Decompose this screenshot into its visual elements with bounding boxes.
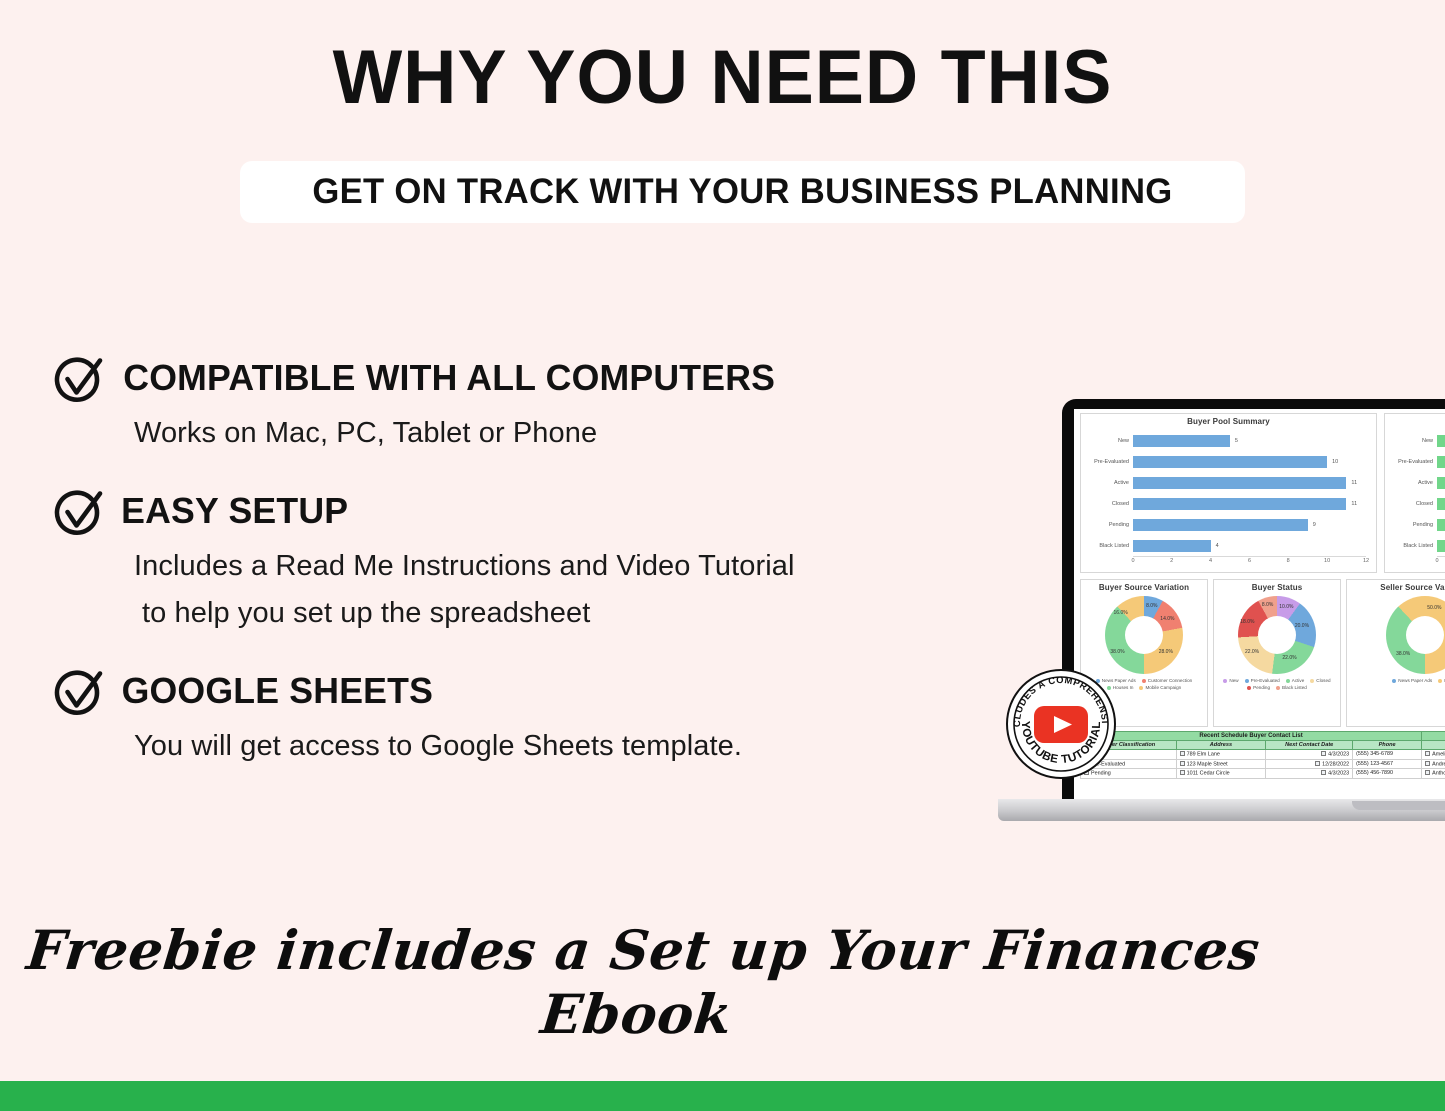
filter-icon[interactable] [1425, 751, 1430, 756]
filter-icon[interactable] [1315, 761, 1320, 766]
bar-plot-area: New5 Pre-Evaluated10 Active11 Closed11 P… [1081, 430, 1366, 556]
slice-label: 22.0% [1245, 649, 1259, 655]
donut-wrapper: 10.0% 20.0% 22.0% 22.0% 18.0% 8.0% [1214, 596, 1340, 674]
legend-item: Broker [1438, 678, 1445, 683]
spreadsheet-dashboard: Buyer Pool Summary New5 Pre-Evaluated10 … [1074, 409, 1445, 799]
legend-label: Mobile Campaign [1145, 685, 1181, 690]
feature-desc-line-2: to help you set up the spreadsheet [134, 590, 1012, 637]
cell-name: Andrew Hall [1422, 759, 1445, 769]
x-axis: 0 2 4 6 8 10 12 [1133, 556, 1366, 566]
feature-title: EASY SETUP [121, 485, 348, 537]
donut-chart: 8.0% 14.0% 28.0% 38.0% 16.0% [1105, 596, 1183, 674]
table-title: Recent Schedule Buyer Contact List [1081, 732, 1422, 741]
x-tick: 0 [1131, 558, 1134, 564]
legend-item: Pre-Evaluated [1245, 678, 1280, 683]
legend-label: Black Listed [1282, 685, 1307, 690]
filter-icon[interactable] [1180, 751, 1185, 756]
cell-name: Anthony Brooks [1422, 769, 1445, 779]
chart-legend: New Pre-Evaluated Active Closed Pending … [1214, 678, 1340, 690]
legend-item: Active [1286, 678, 1305, 683]
bar-row: Pre-Evaluated [1437, 451, 1445, 472]
donut-chart: 10.0% 20.0% 22.0% 22.0% 18.0% 8.0% [1238, 596, 1316, 674]
feature-desc-line-1: You will get access to Google Sheets tem… [134, 730, 742, 762]
x-tick: 8 [1287, 558, 1290, 564]
legend-item: Mobile Campaign [1139, 685, 1181, 690]
column-header-next-contact-date[interactable]: Next Contact Date [1266, 741, 1353, 750]
cell-name: Amelia Bell [1422, 750, 1445, 760]
bar-row: Active [1437, 472, 1445, 493]
feature-title: COMPATIBLE WITH ALL COMPUTERS [123, 352, 775, 404]
bar-row: New5 [1133, 430, 1366, 451]
slice-label: 8.0% [1262, 602, 1273, 608]
bar-value-label: 9 [1313, 522, 1316, 528]
slice-label: 28.0% [1159, 649, 1173, 655]
filter-icon[interactable] [1321, 751, 1326, 756]
donut-wrapper: 50.0% 38.0% [1347, 596, 1445, 674]
slice-label: 18.0% [1240, 619, 1254, 625]
legend-item: Customer Connection [1142, 678, 1192, 683]
slice-label: 50.0% [1427, 605, 1441, 611]
x-tick: 6 [1248, 558, 1251, 564]
donut-chart: 50.0% 38.0% [1386, 596, 1445, 674]
column-header-name[interactable]: Name [1422, 741, 1445, 750]
chart-title: Buyer Status [1214, 580, 1340, 592]
subtitle-text: GET ON TRACK WITH YOUR BUSINESS PLANNING [312, 172, 1172, 212]
legend-label: Active [1292, 678, 1305, 683]
bar-category-label: New [1385, 438, 1433, 444]
chart-seller-pool-summary: Seller Pool Summary New Pre-Evaluated Ac… [1384, 413, 1445, 573]
filter-icon[interactable] [1321, 770, 1326, 775]
legend-item: Closed [1310, 678, 1330, 683]
cell-date: 4/3/2023 [1266, 769, 1353, 779]
table-title-right [1422, 732, 1445, 741]
slice-label: 16.0% [1114, 610, 1128, 616]
feature-list: COMPATIBLE WITH ALL COMPUTERS Works on M… [52, 352, 1012, 798]
bar-plot-area: New Pre-Evaluated Active Closed Pending … [1385, 430, 1445, 556]
check-circle-icon [52, 487, 104, 539]
subtitle-banner: GET ON TRACK WITH YOUR BUSINESS PLANNING [240, 161, 1245, 223]
bar-row: Black Listed4 [1133, 535, 1366, 556]
chart-legend: News Paper Ads Broker [1347, 678, 1445, 683]
cell-phone: (555) 456-7890 [1353, 769, 1422, 779]
bar-category-label: Active [1385, 480, 1433, 486]
bar-row: Pending [1437, 514, 1445, 535]
bar-row: Closed [1437, 493, 1445, 514]
column-header-phone[interactable]: Phone [1353, 741, 1422, 750]
bar-category-label: Black Listed [1081, 543, 1129, 549]
cell-address: 123 Maple Street [1176, 759, 1266, 769]
slice-label: 14.0% [1160, 616, 1174, 622]
table-row: Pre-Evaluated 123 Maple Street 12/28/202… [1081, 759, 1445, 769]
bar-value-label: 10 [1332, 459, 1338, 465]
bar-category-label: Pending [1081, 522, 1129, 528]
bar-category-label: Pre-Evaluated [1081, 459, 1129, 465]
check-circle-icon [52, 667, 104, 719]
bar-category-label: Active [1081, 480, 1129, 486]
bar-row: Pre-Evaluated10 [1133, 451, 1366, 472]
check-circle-icon [52, 354, 104, 406]
slice-label: 20.0% [1295, 623, 1309, 629]
chart-seller-source-variation: Seller Source Variation 50.0% 38.0% News… [1346, 579, 1445, 727]
chart-title: Buyer Source Variation [1081, 580, 1207, 592]
legend-label: Pending [1253, 685, 1270, 690]
legend-item: Pending [1247, 685, 1270, 690]
donut-wrapper: 8.0% 14.0% 28.0% 38.0% 16.0% [1081, 596, 1207, 674]
slice-label: 38.0% [1110, 649, 1124, 655]
legend-label: Pre-Evaluated [1251, 678, 1280, 683]
legend-label: Customer Connection [1148, 678, 1192, 683]
table-row: Pending 1011 Cedar Circle 4/3/2023 (555)… [1081, 769, 1445, 779]
youtube-tutorial-badge: INCLUDES A COMPREHENSIVE YOUTUBE TUTORIA… [1006, 669, 1116, 779]
cell-date: 12/28/2022 [1266, 759, 1353, 769]
feature-header: COMPATIBLE WITH ALL COMPUTERS [52, 352, 1012, 406]
chart-title: Buyer Pool Summary [1081, 414, 1376, 426]
slice-label: 22.0% [1282, 655, 1296, 661]
feature-header: GOOGLE SHEETS [52, 665, 1012, 719]
table-header-row: Buyer Classification Address Next Contac… [1081, 741, 1445, 750]
legend-label: News Paper Ads [1398, 678, 1432, 683]
chart-title: Seller Source Variation [1347, 580, 1445, 592]
bar-value-label: 4 [1216, 543, 1219, 549]
freebie-text: Freebie includes a Set up Your Finances … [0, 918, 1287, 1046]
bar-row: Pending9 [1133, 514, 1366, 535]
bar-row: Closed11 [1133, 493, 1366, 514]
bar-value-label: 11 [1351, 480, 1357, 486]
legend-item: New [1223, 678, 1238, 683]
bar-value-label: 11 [1351, 501, 1357, 507]
cell-phone: (555) 123-4567 [1353, 759, 1422, 769]
x-tick: 0 [1435, 558, 1438, 564]
feature-header: EASY SETUP [52, 485, 1012, 539]
x-axis: 0 [1437, 556, 1445, 566]
legend-item: Black Listed [1276, 685, 1307, 690]
feature-description: Works on Mac, PC, Tablet or Phone [134, 410, 1012, 457]
feature-description: You will get access to Google Sheets tem… [134, 723, 1012, 770]
slice-label: 38.0% [1396, 651, 1410, 657]
feature-description: Includes a Read Me Instructions and Vide… [134, 543, 1012, 637]
feature-item-compatible: COMPATIBLE WITH ALL COMPUTERS Works on M… [52, 352, 1012, 457]
x-tick: 12 [1363, 558, 1369, 564]
bottom-accent-bar [0, 1081, 1445, 1111]
legend-label: New [1229, 678, 1238, 683]
bar-row: New [1437, 430, 1445, 451]
laptop-screen: Buyer Pool Summary New5 Pre-Evaluated10 … [1062, 399, 1445, 799]
feature-desc-line-1: Includes a Read Me Instructions and Vide… [134, 550, 795, 582]
chart-buyer-status: Buyer Status 10.0% 20.0% 22.0% 22.0% 18.… [1213, 579, 1341, 727]
cell-phone: (555) 345-6789 [1353, 750, 1422, 760]
laptop-mockup: Buyer Pool Summary New5 Pre-Evaluated10 … [1062, 399, 1445, 839]
feature-desc-line-1: Works on Mac, PC, Tablet or Phone [134, 417, 597, 449]
feature-item-easy-setup: EASY SETUP Includes a Read Me Instructio… [52, 485, 1012, 637]
bar-value-label: 5 [1235, 438, 1238, 444]
filter-icon[interactable] [1180, 761, 1185, 766]
table-banner-row: Recent Schedule Buyer Contact List [1081, 732, 1445, 741]
cell-address: 1011 Cedar Circle [1176, 769, 1266, 779]
youtube-play-icon [1034, 706, 1088, 743]
feature-item-google-sheets: GOOGLE SHEETS You will get access to Goo… [52, 665, 1012, 770]
laptop-notch [1352, 801, 1445, 810]
bar-row: Active11 [1133, 472, 1366, 493]
page-title: WHY YOU NEED THIS [22, 40, 1424, 116]
bar-row: Black Listed [1437, 535, 1445, 556]
filter-icon[interactable] [1180, 770, 1185, 775]
x-tick: 4 [1209, 558, 1212, 564]
filter-icon[interactable] [1425, 761, 1430, 766]
x-tick: 10 [1324, 558, 1330, 564]
bar-category-label: Pending [1385, 522, 1433, 528]
filter-icon[interactable] [1425, 770, 1430, 775]
legend-label: Closed [1316, 678, 1330, 683]
recent-contact-table: Recent Schedule Buyer Contact List Buyer… [1080, 731, 1445, 779]
cell-date: 4/3/2023 [1266, 750, 1353, 760]
bar-category-label: Closed [1385, 501, 1433, 507]
bar-category-label: Closed [1081, 501, 1129, 507]
x-tick: 2 [1170, 558, 1173, 564]
chart-buyer-pool-summary: Buyer Pool Summary New5 Pre-Evaluated10 … [1080, 413, 1377, 573]
slice-label: 8.0% [1146, 603, 1157, 609]
cell-address: 789 Elm Lane [1176, 750, 1266, 760]
column-header-address[interactable]: Address [1176, 741, 1266, 750]
table-row: Active 789 Elm Lane 4/3/2023 (555) 345-6… [1081, 750, 1445, 760]
slice-label: 10.0% [1279, 604, 1293, 610]
bar-category-label: Pre-Evaluated [1385, 459, 1433, 465]
bar-category-label: New [1081, 438, 1129, 444]
legend-item: News Paper Ads [1392, 678, 1432, 683]
feature-title: GOOGLE SHEETS [122, 665, 434, 717]
bar-category-label: Black Listed [1385, 543, 1433, 549]
